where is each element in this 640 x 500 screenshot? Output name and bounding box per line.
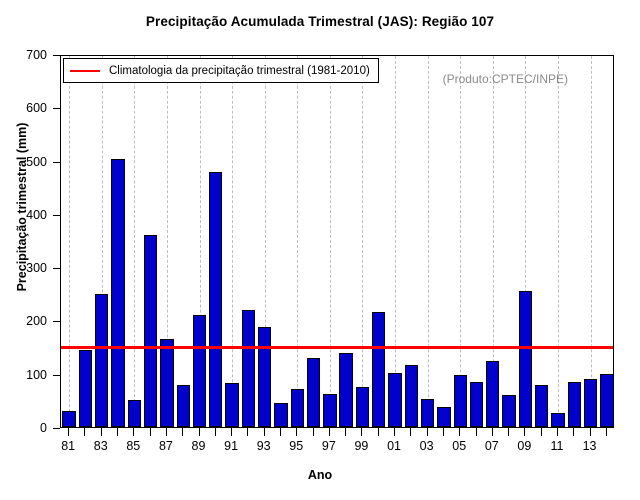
x-tick-label-91: 91 <box>224 439 238 453</box>
x-tick-mark-12 <box>573 428 574 436</box>
x-tick-mark-03 <box>427 428 428 436</box>
x-tick-label-93: 93 <box>257 439 271 453</box>
x-tick-mark-96 <box>313 428 314 436</box>
y-tick-label-600: 600 <box>26 101 47 115</box>
bar-95 <box>291 389 304 427</box>
bar-94 <box>274 403 287 427</box>
x-tick-mark-13 <box>590 428 591 436</box>
x-tick-label-81: 81 <box>61 439 75 453</box>
x-tick-mark-06 <box>476 428 477 436</box>
bar-91 <box>225 383 238 427</box>
precipitation-bar-chart: Precipitação Acumulada Trimestral (JAS):… <box>0 0 640 500</box>
x-axis-ticks <box>60 428 614 438</box>
x-tick-mark-94 <box>280 428 281 436</box>
y-tick-mark-0 <box>53 428 60 429</box>
x-tick-label-83: 83 <box>94 439 108 453</box>
legend-label: Climatologia da precipitação trimestral … <box>109 65 370 77</box>
x-tick-label-13: 13 <box>583 439 597 453</box>
y-tick-mark-600 <box>53 108 60 109</box>
x-tick-mark-90 <box>215 428 216 436</box>
bar-04 <box>437 407 450 427</box>
bar-87 <box>160 339 173 427</box>
legend: Climatologia da precipitação trimestral … <box>63 58 379 83</box>
y-tick-label-100: 100 <box>26 368 47 382</box>
y-tick-label-200: 200 <box>26 314 47 328</box>
y-tick-mark-300 <box>53 268 60 269</box>
x-tick-mark-84 <box>117 428 118 436</box>
x-tick-mark-98 <box>345 428 346 436</box>
x-tick-mark-86 <box>150 428 151 436</box>
y-tick-label-700: 700 <box>26 48 47 62</box>
x-tick-mark-01 <box>394 428 395 436</box>
x-tick-mark-99 <box>361 428 362 436</box>
bar-01 <box>388 373 401 427</box>
bar-93 <box>258 327 271 427</box>
x-tick-mark-04 <box>443 428 444 436</box>
x-tick-label-11: 11 <box>550 439 563 453</box>
bar-09 <box>519 291 532 427</box>
x-tick-mark-89 <box>199 428 200 436</box>
producer-note: (Produto:CPTEC/INPE) <box>443 72 568 86</box>
x-tick-label-87: 87 <box>159 439 173 453</box>
x-tick-mark-10 <box>541 428 542 436</box>
y-tick-label-400: 400 <box>26 208 47 222</box>
x-tick-label-95: 95 <box>289 439 303 453</box>
x-tick-mark-09 <box>524 428 525 436</box>
bar-12 <box>568 382 581 427</box>
chart-title: Precipitação Acumulada Trimestral (JAS):… <box>0 14 640 29</box>
x-tick-mark-08 <box>508 428 509 436</box>
bar-99 <box>356 387 369 427</box>
x-axis-title: Ano <box>0 468 640 482</box>
bar-86 <box>144 235 157 427</box>
x-tick-mark-92 <box>247 428 248 436</box>
x-tick-label-07: 07 <box>485 439 499 453</box>
climatology-reference-line <box>61 346 613 349</box>
bar-83 <box>95 294 108 427</box>
bar-13 <box>584 379 597 427</box>
y-tick-mark-200 <box>53 321 60 322</box>
bars-layer <box>61 56 613 427</box>
x-tick-mark-07 <box>492 428 493 436</box>
bar-84 <box>111 159 124 427</box>
bar-89 <box>193 315 206 427</box>
y-tick-label-500: 500 <box>26 155 47 169</box>
bar-85 <box>128 400 141 427</box>
x-tick-label-01: 01 <box>387 439 401 453</box>
bar-00 <box>372 312 385 427</box>
bar-03 <box>421 399 434 427</box>
y-axis: Precipitação trimestral (mm) 01002003004… <box>0 0 60 500</box>
x-tick-label-85: 85 <box>126 439 140 453</box>
legend-line-swatch <box>70 70 100 72</box>
x-tick-mark-11 <box>557 428 558 436</box>
bar-88 <box>177 385 190 427</box>
bar-82 <box>79 350 92 427</box>
x-tick-mark-81 <box>68 428 69 436</box>
y-tick-label-0: 0 <box>40 421 47 435</box>
x-tick-mark-87 <box>166 428 167 436</box>
bar-07 <box>486 361 499 427</box>
bar-14 <box>600 374 613 427</box>
x-tick-mark-00 <box>378 428 379 436</box>
x-tick-mark-88 <box>182 428 183 436</box>
y-tick-mark-100 <box>53 375 60 376</box>
bar-11 <box>551 413 564 427</box>
bar-08 <box>502 395 515 427</box>
bar-06 <box>470 382 483 427</box>
x-axis-tick-labels: 8183858789919395979901030507091113 <box>60 439 614 459</box>
bar-81 <box>62 411 75 427</box>
x-tick-mark-82 <box>84 428 85 436</box>
x-tick-label-99: 99 <box>354 439 368 453</box>
y-tick-mark-700 <box>53 55 60 56</box>
bar-10 <box>535 385 548 427</box>
x-tick-mark-93 <box>264 428 265 436</box>
bar-97 <box>323 394 336 427</box>
x-tick-label-09: 09 <box>517 439 531 453</box>
x-tick-mark-02 <box>410 428 411 436</box>
x-tick-label-03: 03 <box>420 439 434 453</box>
plot-area <box>60 55 614 428</box>
x-tick-mark-95 <box>296 428 297 436</box>
bar-05 <box>454 375 467 427</box>
x-tick-mark-14 <box>606 428 607 436</box>
x-tick-mark-83 <box>101 428 102 436</box>
x-tick-label-89: 89 <box>192 439 206 453</box>
x-tick-mark-91 <box>231 428 232 436</box>
x-tick-label-97: 97 <box>322 439 336 453</box>
x-tick-mark-05 <box>459 428 460 436</box>
bar-96 <box>307 358 320 427</box>
y-tick-mark-400 <box>53 215 60 216</box>
y-tick-mark-500 <box>53 162 60 163</box>
y-tick-label-300: 300 <box>26 261 47 275</box>
bar-90 <box>209 172 222 427</box>
x-tick-mark-85 <box>133 428 134 436</box>
x-tick-mark-97 <box>329 428 330 436</box>
bar-92 <box>242 310 255 427</box>
bar-98 <box>339 353 352 427</box>
x-tick-label-05: 05 <box>452 439 466 453</box>
bar-02 <box>405 365 418 427</box>
